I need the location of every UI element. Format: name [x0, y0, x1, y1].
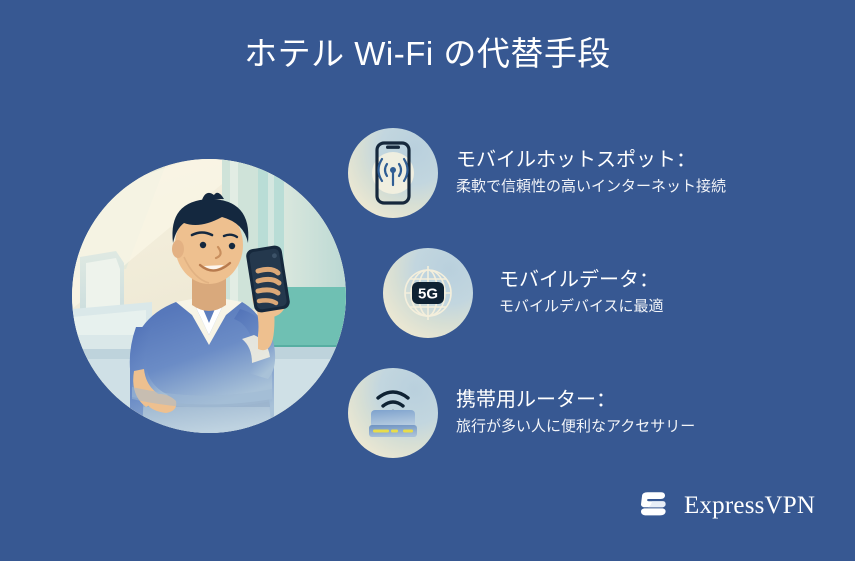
feature-title: モバイルホットスポット： — [456, 148, 726, 173]
page-title: ホテル Wi-Fi の代替手段 — [0, 27, 855, 75]
feature-row-mobile-hotspot: モバイルホットスポット： 柔軟で信頼性の高いインターネット接続 — [348, 128, 726, 218]
feature-title: モバイルデータ： — [499, 268, 664, 293]
feature-description: 柔軟で信頼性の高いインターネット接続 — [456, 176, 726, 198]
smartphone-hotspot-icon — [348, 128, 438, 218]
logo-wordmark: ExpressVPN — [684, 492, 815, 520]
feature-description: 旅行が多い人に便利なアクセサリー — [456, 416, 695, 438]
portable-router-icon — [348, 368, 438, 458]
feature-row-portable-router: 携帯用ルーター： 旅行が多い人に便利なアクセサリー — [348, 368, 695, 458]
feature-text-block: モバイルデータ： モバイルデバイスに最適 — [499, 268, 664, 318]
feature-title: 携帯用ルーター： — [456, 388, 695, 413]
infographic-canvas: ホテル Wi-Fi の代替手段 — [0, 0, 855, 561]
feature-description: モバイルデバイスに最適 — [499, 296, 664, 318]
feature-text-block: モバイルホットスポット： 柔軟で信頼性の高いインターネット接続 — [456, 148, 726, 198]
feature-text-block: 携帯用ルーター： 旅行が多い人に便利なアクセサリー — [456, 388, 695, 438]
expressvpn-e-mark-icon — [634, 487, 672, 525]
svg-text:5G: 5G — [418, 286, 438, 303]
hero-illustration — [72, 159, 346, 433]
globe-5g-icon: 5G — [383, 248, 473, 338]
expressvpn-logo: ExpressVPN — [634, 487, 815, 525]
feature-row-mobile-data: 5G モバイルデータ： モバイルデバイスに最適 — [383, 248, 664, 338]
